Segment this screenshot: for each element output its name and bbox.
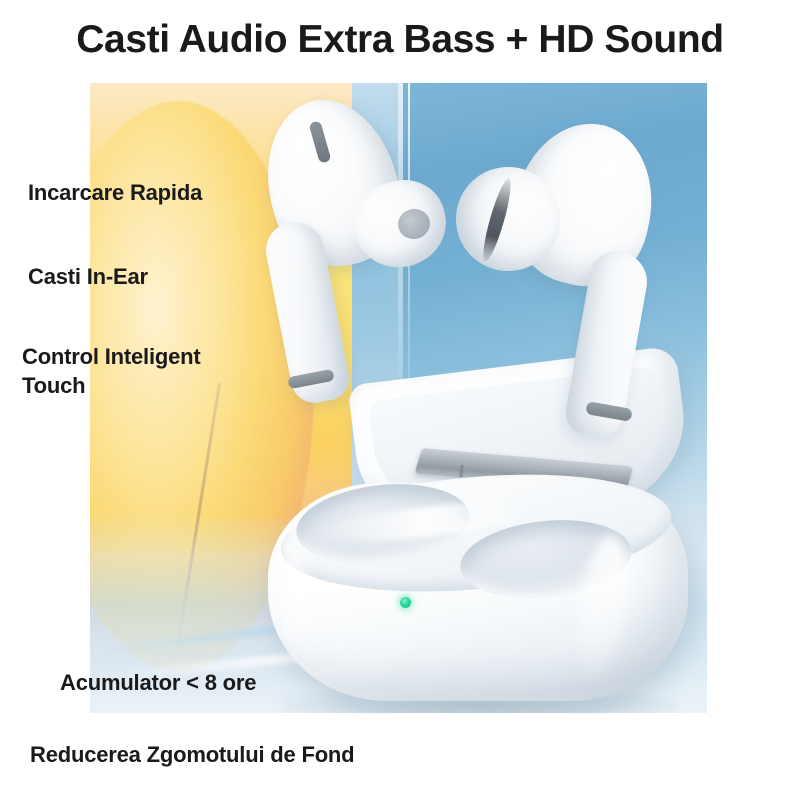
feature-label-in-ear: Casti In-Ear	[28, 262, 148, 291]
status-led-indicator	[400, 597, 411, 608]
feature-label-touch-control: Control Inteligent Touch	[22, 342, 201, 400]
page-title: Casti Audio Extra Bass + HD Sound	[0, 18, 800, 62]
feature-label-touch-control-line1: Control Inteligent	[22, 342, 201, 371]
right-earbud	[428, 111, 668, 441]
feature-label-fast-charging: Incarcare Rapida	[28, 178, 202, 207]
feature-label-noise-reduction: Reducerea Zgomotului de Fond	[30, 740, 354, 769]
feature-label-battery: Acumulator < 8 ore	[60, 668, 256, 697]
feature-label-touch-control-line2: Touch	[22, 371, 201, 400]
